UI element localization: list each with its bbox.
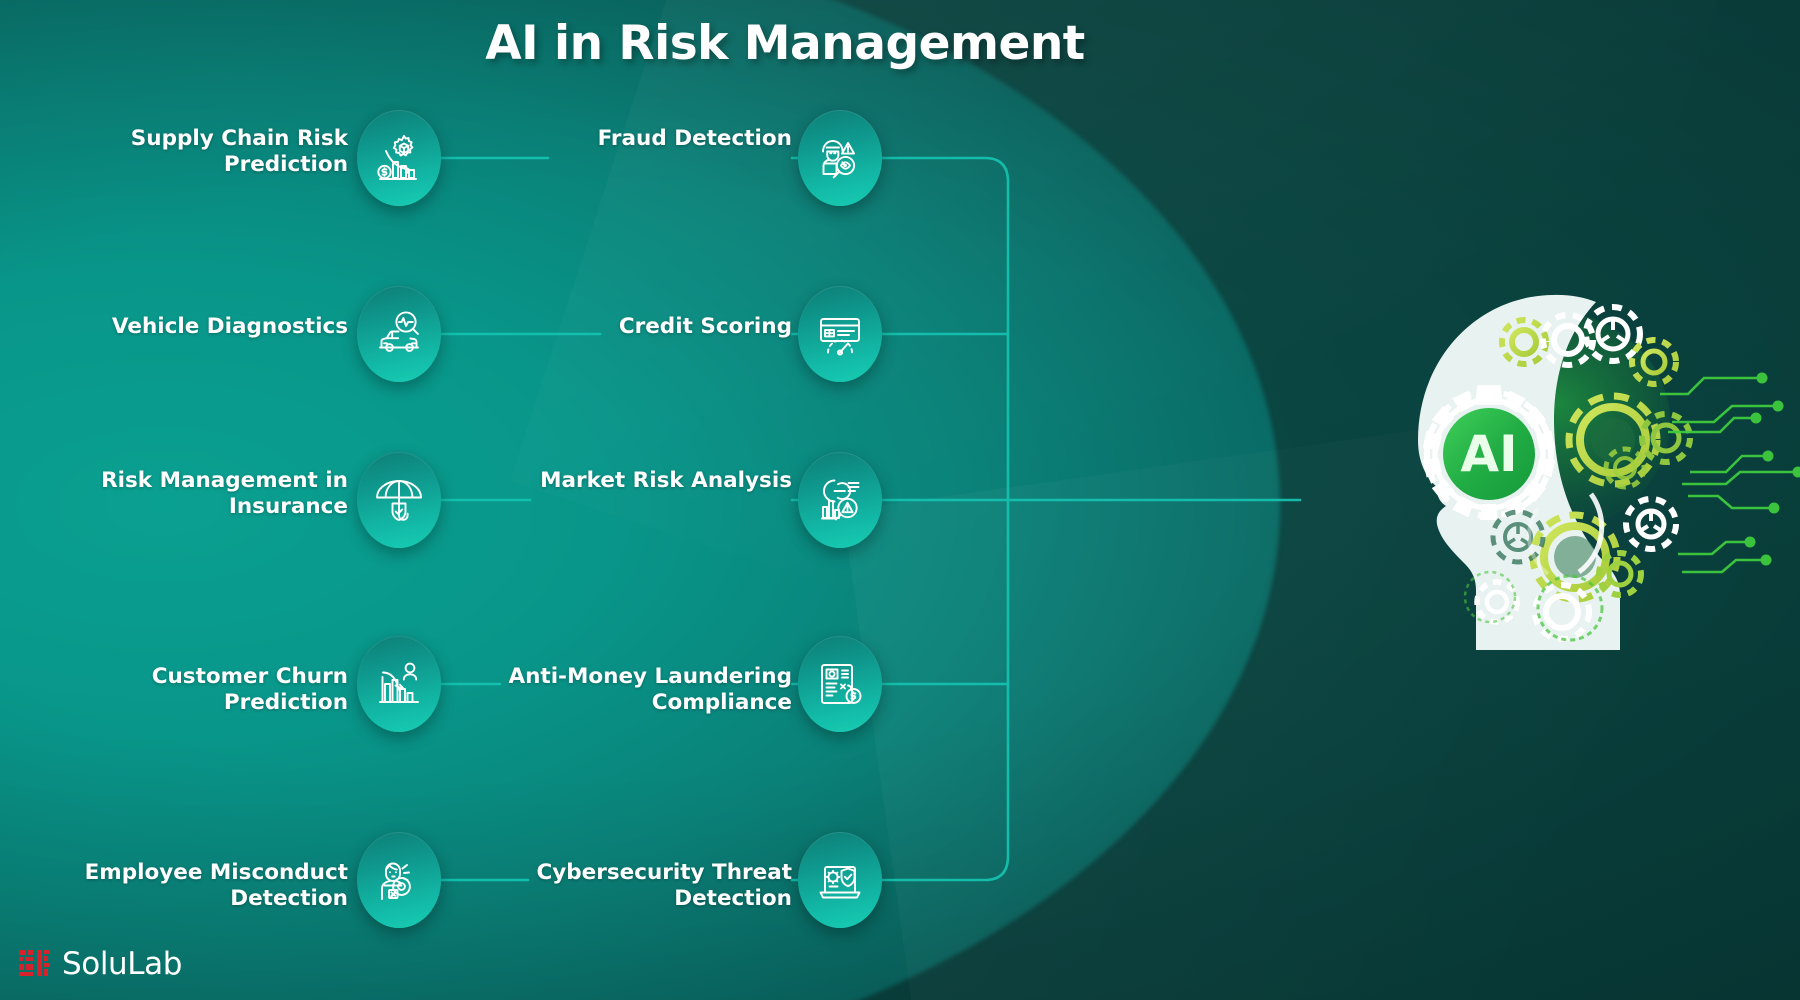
sidebar-item-fraud-detection[interactable]: Fraud Detection [528,126,792,152]
cybersecurity-laptop-shield-bug-icon[interactable] [798,832,882,928]
row-2-left-label-wrap: Vehicle Diagnostics [0,314,348,340]
sidebar-item-credit-scoring[interactable]: Credit Scoring [528,314,792,340]
infographic-canvas: AI in Risk Management Supply Chain Risk … [0,0,1800,1000]
row-1-right-label-wrap: Fraud Detection [528,126,792,152]
employee-misconduct-magnifier-icon[interactable] [357,832,441,928]
insurance-umbrella-shield-icon[interactable] [357,452,441,548]
sidebar-item-customer-churn-prediction[interactable]: Customer Churn Prediction [0,664,348,716]
market-risk-piechart-warning-icon[interactable] [798,452,882,548]
ai-brain-head-gears-icon: AI [1330,272,1800,652]
sidebar-item-anti-money-laundering-compliance[interactable]: Anti-Money Laundering Compliance [436,664,792,716]
aml-document-dollar-icon[interactable] [798,636,882,732]
row-1-left-label-wrap: Supply Chain Risk Prediction [0,126,348,178]
sidebar-item-vehicle-diagnostics[interactable]: Vehicle Diagnostics [0,314,348,340]
sidebar-item-employee-misconduct-detection[interactable]: Employee Misconduct Detection [0,860,348,912]
credit-card-gauge-icon[interactable] [798,286,882,382]
row-2-right-label-wrap: Credit Scoring [528,314,792,340]
svg-text:AI: AI [1460,425,1517,483]
brand-name: SoluLab [62,946,182,982]
row-4-left-label-wrap: Customer Churn Prediction [0,664,348,716]
solulab-mark-icon [18,947,52,981]
row-5-right-label-wrap: Cybersecurity Threat Detection [460,860,792,912]
vehicle-diagnostics-car-pulse-icon[interactable] [357,286,441,382]
churn-declining-bars-user-icon[interactable] [357,636,441,732]
sidebar-item-risk-management-in-insurance[interactable]: Risk Management in Insurance [0,468,348,520]
sidebar-item-cybersecurity-threat-detection[interactable]: Cybersecurity Threat Detection [460,860,792,912]
sidebar-item-supply-chain-risk-prediction[interactable]: Supply Chain Risk Prediction [0,126,348,178]
brand-logo[interactable]: SoluLab [18,946,182,982]
row-4-right-label-wrap: Anti-Money Laundering Compliance [436,664,792,716]
supply-chain-gear-box-chart-icon[interactable] [357,110,441,206]
row-3-right-label-wrap: Market Risk Analysis [476,468,792,494]
fraud-hooded-figure-magnifier-icon[interactable] [798,110,882,206]
sidebar-item-market-risk-analysis[interactable]: Market Risk Analysis [476,468,792,494]
row-5-left-label-wrap: Employee Misconduct Detection [0,860,348,912]
row-3-left-label-wrap: Risk Management in Insurance [0,468,348,520]
